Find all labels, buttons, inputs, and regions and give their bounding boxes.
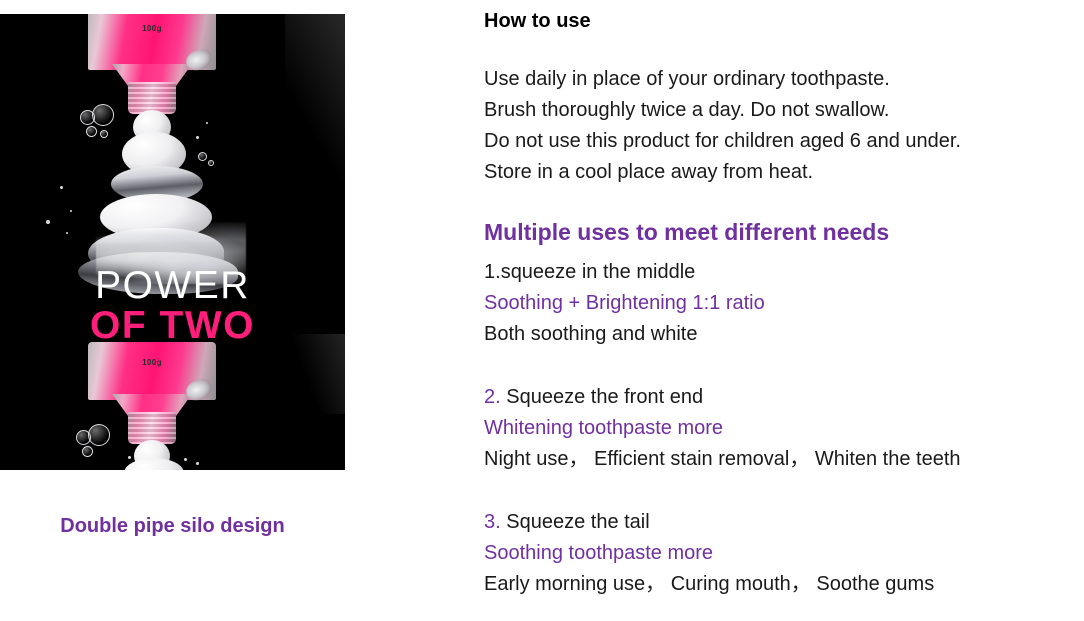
droplet-speck (184, 458, 187, 461)
paste-swirl-segment (124, 458, 184, 470)
use-item-subheading: Soothing + Brightening 1:1 ratio (484, 288, 1084, 319)
use-item-subheading: Soothing toothpaste more (484, 538, 1084, 569)
use-item-heading: 2. Squeeze the front end (484, 382, 1084, 413)
droplet-speck (196, 136, 199, 139)
use-item-number: 3. (484, 511, 501, 533)
use-item-number: 2. (484, 386, 501, 408)
hero-line-power: POWER (0, 266, 345, 307)
droplet-speck (70, 210, 72, 212)
tube-weight-label-bottom: 100g (88, 358, 216, 367)
tube-weight-label-top: 100g (88, 24, 216, 33)
multiple-uses-title: Multiple uses to meet different needs (484, 218, 1084, 248)
use-item-subheading: Whitening toothpaste more (484, 413, 1084, 444)
bubble-icon (208, 160, 214, 166)
use-item-2: 2. Squeeze the front end Whitening tooth… (484, 382, 1084, 475)
bubble-icon (88, 424, 110, 446)
right-column: How to use Use daily in place of your or… (484, 8, 1084, 600)
droplet-speck (206, 122, 208, 124)
use-item-heading: 1.squeeze in the middle (484, 257, 1084, 288)
droplet-speck (128, 456, 131, 459)
how-to-use-line: Do not use this product for children age… (484, 126, 1084, 157)
photo-highlight-top-right (285, 14, 345, 194)
bubble-icon (82, 446, 93, 457)
bubble-icon (100, 130, 108, 138)
use-item-heading-text: Squeeze the tail (506, 511, 649, 533)
use-item-heading-text: squeeze in the middle (501, 261, 696, 283)
product-photo: 100g (0, 14, 345, 470)
figure-caption: Double pipe silo design (0, 515, 345, 538)
left-column: 100g (0, 0, 470, 621)
how-to-use-body: Use daily in place of your ordinary toot… (484, 64, 1084, 188)
droplet-speck (66, 232, 68, 234)
use-item-heading: 3. Squeeze the tail (484, 507, 1084, 538)
droplet-speck (46, 220, 50, 224)
photo-stage: 100g (0, 14, 345, 470)
use-item-1: 1.squeeze in the middle Soothing + Brigh… (484, 257, 1084, 350)
use-item-number: 1. (484, 261, 501, 283)
use-item-detail: Both soothing and white (484, 319, 1084, 350)
droplet-speck (196, 462, 199, 465)
droplet-speck (60, 186, 63, 189)
bubble-icon (92, 104, 114, 126)
how-to-use-title: How to use (484, 8, 1084, 35)
use-item-detail: Early morning use， Curing mouth， Soothe … (484, 569, 1084, 600)
use-item-3: 3. Squeeze the tail Soothing toothpaste … (484, 507, 1084, 600)
bubble-icon (198, 152, 207, 161)
use-item-heading-text: Squeeze the front end (506, 386, 703, 408)
product-info-slide: 100g (0, 0, 1084, 621)
bubble-icon (86, 126, 97, 137)
how-to-use-line: Store in a cool place away from heat. (484, 157, 1084, 188)
photo-highlight-right (285, 334, 345, 414)
how-to-use-line: Use daily in place of your ordinary toot… (484, 64, 1084, 95)
use-item-detail: Night use， Efficient stain removal， Whit… (484, 444, 1084, 475)
how-to-use-line: Brush thoroughly twice a day. Do not swa… (484, 95, 1084, 126)
